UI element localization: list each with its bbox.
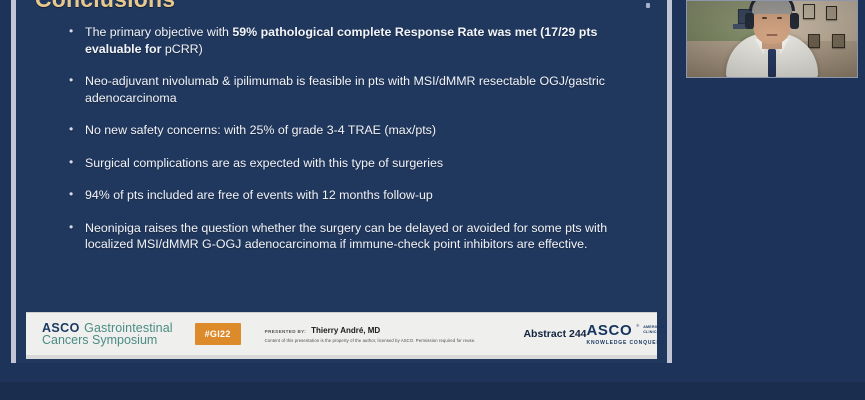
bullet-item: No new safety concerns: with 25% of grad… — [67, 122, 644, 139]
wall-picture-3 — [803, 4, 815, 19]
bullet-text: The primary objective with — [85, 25, 232, 39]
bullet-item: 94% of pts included are free of events w… — [67, 187, 644, 204]
bullet-list: The primary objective with 59% pathologi… — [67, 24, 644, 269]
bullet-text: Surgical complications are as expected w… — [85, 156, 443, 170]
asco-logo-society-line1: AMERICAN SOCIETY OF — [643, 325, 672, 329]
webcam-scene — [687, 1, 857, 77]
slide-title: Conclusions — [35, 0, 175, 13]
headphone-earcup-left-icon — [745, 13, 754, 29]
presented-by-block: PRESENTED BY: Thierry André, MD Content … — [265, 326, 476, 343]
wall-picture-6 — [832, 34, 845, 48]
asco-logo: ASCO ® AMERICAN SOCIETY OF CLINICAL ONCO… — [587, 323, 673, 346]
bullet-item: The primary objective with 59% pathologi… — [67, 24, 644, 57]
presenter-name: Thierry André, MD — [311, 326, 380, 335]
bullet-text: Neonipiga raises the question whether th… — [85, 221, 607, 252]
wall-picture-5 — [808, 34, 820, 48]
copyright-disclaimer: Content of this presentation is the prop… — [265, 338, 476, 343]
slide-footer: ASCO Gastrointestinal Cancers Symposium … — [26, 312, 657, 355]
asco-logo-society-line2: CLINICAL ONCOLOGY — [643, 330, 672, 334]
presenter-mouth — [767, 34, 778, 36]
viewer-bottom-band — [0, 382, 865, 400]
asco-logo-registered-mark: ® — [636, 324, 639, 328]
slide-content-area: Conclusions The primary objective with 5… — [21, 0, 662, 363]
bullet-item: Neonipiga raises the question whether th… — [67, 220, 644, 253]
presenter-necktie — [768, 49, 776, 77]
bullet-text: pCRR) — [165, 42, 203, 56]
wall-picture-4 — [826, 6, 837, 20]
presenter-eye-right — [777, 17, 782, 19]
bullet-text: Neo-adjuvant nivolumab & ipilimumab is f… — [85, 74, 605, 105]
asco-gi-logo-line2: Cancers Symposium — [42, 334, 173, 347]
presenter-eye-left — [762, 17, 767, 19]
bullet-text: 94% of pts included are free of events w… — [85, 188, 433, 202]
asco-gi-symposium-logo: ASCO Gastrointestinal Cancers Symposium — [42, 322, 173, 347]
slide-canvas[interactable]: Conclusions The primary objective with 5… — [11, 0, 672, 363]
footer-shadow — [26, 355, 657, 359]
asco-logo-wordmark: ASCO — [587, 323, 633, 338]
hashtag-badge: #GI22 — [195, 323, 241, 345]
headphone-earcup-right-icon — [790, 13, 799, 29]
slide-marker-dot-icon — [646, 3, 650, 8]
bullet-item: Neo-adjuvant nivolumab & ipilimumab is f… — [67, 73, 644, 106]
asco-logo-tagline: KNOWLEDGE CONQUERS CANCER — [587, 341, 673, 346]
presentation-viewer: Conclusions The primary objective with 5… — [0, 0, 865, 400]
abstract-number: Abstract 244 — [523, 328, 586, 340]
presenter-webcam-feed[interactable] — [686, 0, 858, 78]
bullet-text: No new safety concerns: with 25% of grad… — [85, 123, 436, 137]
bullet-item: Surgical complications are as expected w… — [67, 155, 644, 172]
headphone-band-icon — [749, 0, 795, 11]
presented-by-label: PRESENTED BY: — [265, 329, 306, 334]
